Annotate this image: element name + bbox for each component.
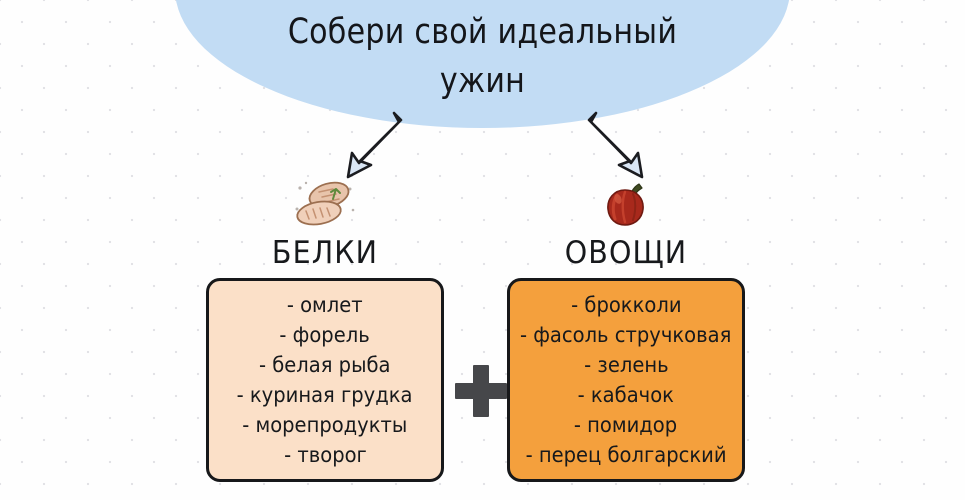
- list-item: - куриная грудка: [237, 380, 413, 410]
- category-proteins: БЕЛКИ - омлет - форель - белая рыба - ку…: [206, 176, 444, 482]
- list-item: - брокколи: [571, 290, 681, 320]
- proteins-list-box: - омлет - форель - белая рыба - куриная …: [206, 278, 444, 482]
- list-item: - фасоль стручковая: [520, 320, 731, 350]
- plus-sign: [455, 365, 507, 417]
- list-item: - перец болгарский: [526, 440, 727, 470]
- page-title: Собери свой идеальный ужин: [218, 8, 747, 106]
- list-item: - кабачок: [578, 380, 674, 410]
- tomato-icon: [507, 176, 745, 234]
- vegetables-list-box: - брокколи - фасоль стручковая - зелень …: [507, 278, 745, 482]
- arrow-to-proteins: [330, 105, 410, 185]
- list-item: - белая рыба: [259, 350, 391, 380]
- infographic-canvas: Собери свой идеальный ужин: [0, 0, 965, 500]
- category-title-vegetables: ОВОЩИ: [517, 236, 736, 270]
- category-vegetables: ОВОЩИ - брокколи - фасоль стручковая - з…: [507, 176, 745, 482]
- plus-vertical-bar: [473, 365, 489, 417]
- list-item: - омлет: [287, 290, 363, 320]
- list-item: - зелень: [584, 350, 668, 380]
- arrow-to-vegetables: [580, 105, 660, 185]
- list-item: - творог: [284, 440, 367, 470]
- list-item: - морепродукты: [242, 410, 407, 440]
- list-item: - форель: [280, 320, 370, 350]
- category-title-proteins: БЕЛКИ: [216, 236, 435, 270]
- grilled-fillets-icon: [206, 176, 444, 234]
- list-item: - помидор: [574, 410, 677, 440]
